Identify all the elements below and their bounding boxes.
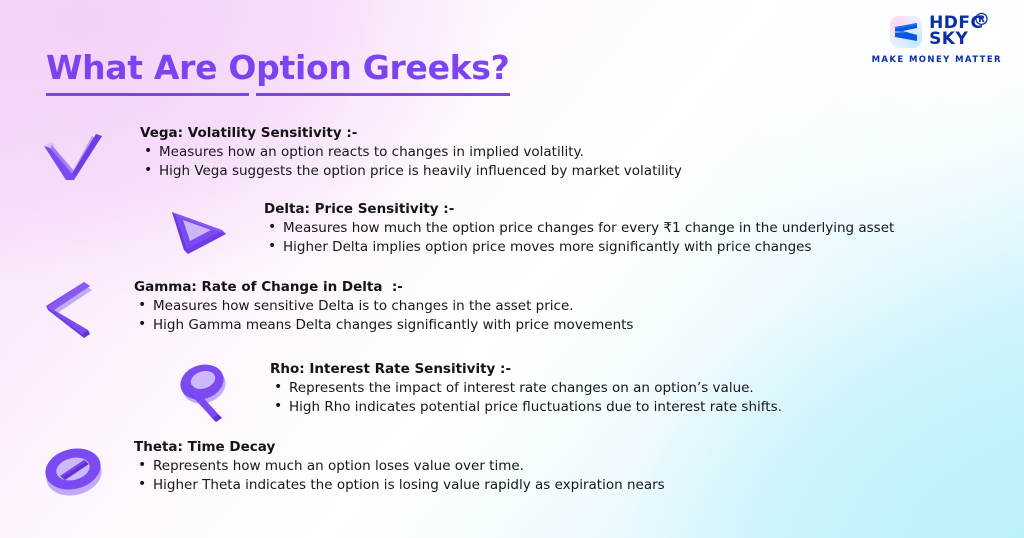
list-item: Represents the impact of interest rate c… <box>270 379 782 398</box>
section-rho-text: Rho: Interest Rate Sensitivity :- Repres… <box>270 360 782 417</box>
list-item: Represents how much an option loses valu… <box>134 457 665 476</box>
greek-gamma-3d-icon <box>40 278 114 348</box>
hdfc-sky-swoosh-icon <box>890 16 922 48</box>
section-delta-bullets: Measures how much the option price chang… <box>264 219 894 257</box>
greek-rho-3d-icon <box>172 360 244 432</box>
page-title: What Are Option Greeks? <box>46 48 510 87</box>
list-item: High Rho indicates potential price fluct… <box>270 398 782 417</box>
section-theta-text: Theta: Time Decay Represents how much an… <box>134 438 665 495</box>
list-item: High Vega suggests the option price is h… <box>140 162 682 181</box>
section-vega-heading: Vega: Volatility Sensitivity :- <box>140 125 682 141</box>
greek-delta-3d-icon <box>162 200 238 266</box>
section-vega-text: Vega: Volatility Sensitivity :- Measures… <box>140 124 682 181</box>
section-vega: Vega: Volatility Sensitivity :- Measures… <box>38 124 682 192</box>
list-item: Higher Delta implies option price moves … <box>264 238 894 257</box>
registered-mark-icon: ® <box>973 13 991 29</box>
section-theta-heading: Theta: Time Decay <box>134 439 665 455</box>
infographic-canvas: HDFC SKY ® MAKE MONEY MATTER What Are Op… <box>0 0 1024 538</box>
brand-tagline: MAKE MONEY MATTER <box>872 55 1002 65</box>
section-rho: Rho: Interest Rate Sensitivity :- Repres… <box>172 360 782 432</box>
list-item: Measures how an option reacts to changes… <box>140 143 682 162</box>
section-theta: Theta: Time Decay Represents how much an… <box>38 438 665 504</box>
section-theta-bullets: Represents how much an option loses valu… <box>134 457 665 495</box>
brand-logo-row: HDFC SKY ® <box>890 16 983 48</box>
section-delta: Delta: Price Sensitivity :- Measures how… <box>162 200 894 266</box>
list-item: Measures how sensitive Delta is to chang… <box>134 297 633 316</box>
section-rho-bullets: Represents the impact of interest rate c… <box>270 379 782 417</box>
greek-nu-3d-icon <box>38 124 114 192</box>
section-delta-heading: Delta: Price Sensitivity :- <box>264 201 894 217</box>
list-item: Measures how much the option price chang… <box>264 219 894 238</box>
section-delta-text: Delta: Price Sensitivity :- Measures how… <box>264 200 894 257</box>
list-item: High Gamma means Delta changes significa… <box>134 316 633 335</box>
brand-name-line2: SKY <box>929 32 983 48</box>
page-title-block: What Are Option Greeks? <box>46 48 510 96</box>
section-gamma-bullets: Measures how sensitive Delta is to chang… <box>134 297 633 335</box>
section-gamma-text: Gamma: Rate of Change in Delta :- Measur… <box>134 278 633 335</box>
list-item: Higher Theta indicates the option is los… <box>134 476 665 495</box>
section-vega-bullets: Measures how an option reacts to changes… <box>140 143 682 181</box>
greek-theta-3d-icon <box>38 438 112 504</box>
section-gamma: Gamma: Rate of Change in Delta :- Measur… <box>40 278 633 348</box>
brand-logo: HDFC SKY ® MAKE MONEY MATTER <box>872 16 1002 65</box>
title-underline <box>46 93 510 96</box>
brand-wordmark: HDFC SKY ® <box>929 16 983 47</box>
section-rho-heading: Rho: Interest Rate Sensitivity :- <box>270 361 782 377</box>
section-gamma-heading: Gamma: Rate of Change in Delta :- <box>134 279 633 295</box>
